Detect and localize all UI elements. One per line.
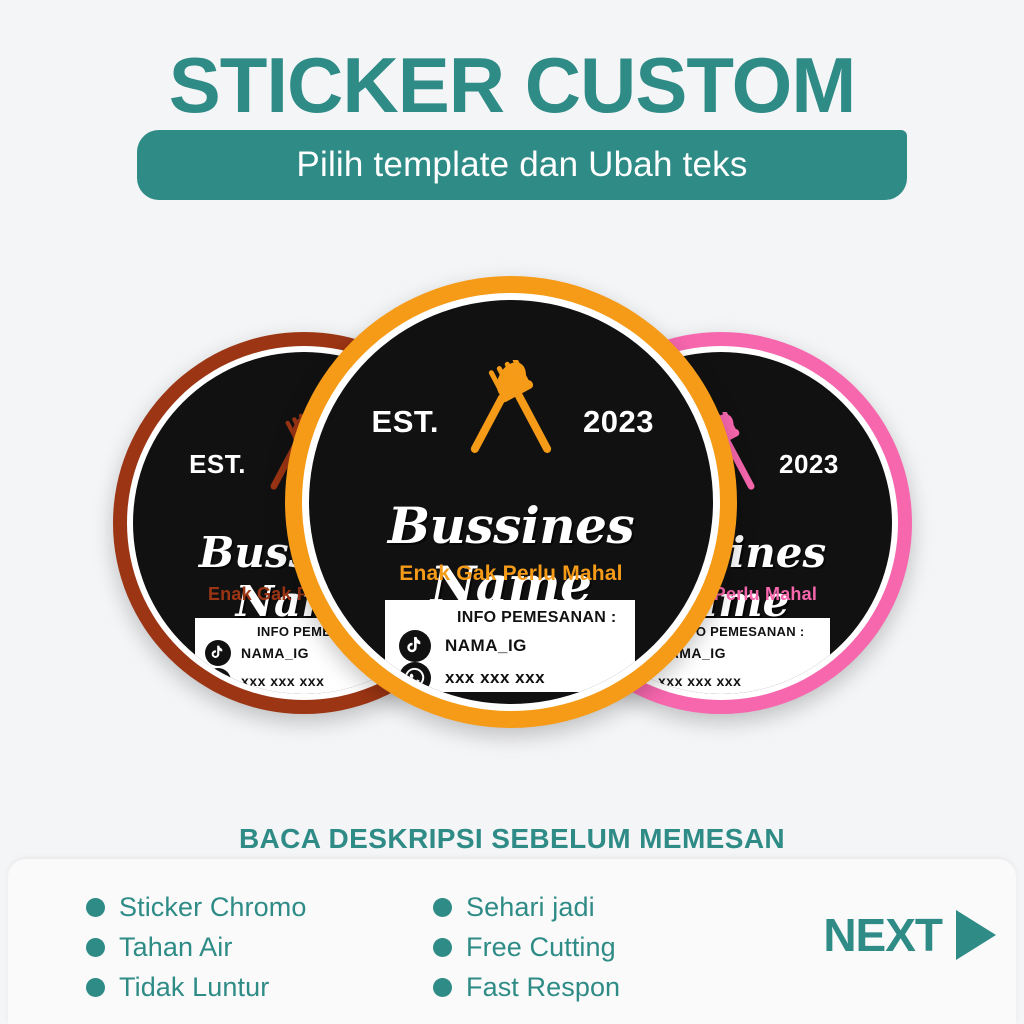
feature-label: Tahan Air	[119, 932, 232, 963]
year-label: 2023	[771, 449, 875, 480]
subtitle-text: Pilih template dan Ubah teks	[296, 145, 747, 185]
sticker-showcase: EST.	[0, 238, 1024, 778]
bullet-dot-icon	[433, 898, 452, 917]
features-column-1: Sticker Chromo Tahan Air Tidak Luntur	[86, 887, 306, 1007]
est-label: EST.	[331, 404, 451, 440]
next-button[interactable]: NEXT	[823, 908, 996, 962]
page-title: STICKER CUSTOM	[0, 46, 1024, 124]
tiktok-row: NAMA_IG	[205, 640, 309, 666]
whatsapp-icon	[399, 662, 431, 694]
feature-label: Tidak Luntur	[119, 972, 269, 1003]
features-column-2: Sehari jadi Free Cutting Fast Respon	[433, 887, 620, 1007]
sticker-preview-center[interactable]: EST.	[285, 276, 737, 728]
list-item: Tahan Air	[86, 927, 306, 967]
list-item: Fast Respon	[433, 967, 620, 1007]
feature-label: Sticker Chromo	[119, 892, 306, 923]
bullet-dot-icon	[86, 938, 105, 957]
tiktok-handle: NAMA_IG	[241, 645, 309, 661]
feature-label: Fast Respon	[466, 972, 620, 1003]
subtitle-banner: Pilih template dan Ubah teks	[137, 130, 907, 200]
brush-banner: INFO PEMESANAN : NAMA_IG xxx xxx xxx	[385, 600, 635, 692]
spoon-fork-crossed-icon	[451, 360, 571, 470]
tiktok-handle: NAMA_IG	[445, 636, 527, 656]
bullet-dot-icon	[433, 938, 452, 957]
est-year-row: EST.	[309, 374, 713, 470]
tiktok-icon	[205, 640, 231, 666]
read-description-heading: BACA DESKRIPSI SEBELUM MEMESAN	[0, 823, 1024, 855]
tiktok-row: NAMA_IG	[399, 630, 527, 662]
header: STICKER CUSTOM Pilih template dan Ubah t…	[0, 0, 1024, 230]
bullet-dot-icon	[433, 978, 452, 997]
business-name: Bussines Name	[309, 496, 713, 614]
whatsapp-row: xxx xxx xxx	[205, 668, 324, 694]
tagline: Enak Gak Perlu Mahal	[309, 562, 713, 586]
whatsapp-number: xxx xxx xxx	[445, 668, 545, 688]
year-label: 2023	[571, 404, 691, 440]
est-label: EST.	[150, 449, 254, 480]
play-triangle-icon	[956, 910, 996, 960]
list-item: Tidak Luntur	[86, 967, 306, 1007]
feature-label: Free Cutting	[466, 932, 616, 963]
bullet-dot-icon	[86, 898, 105, 917]
info-title: INFO PEMESANAN :	[457, 609, 616, 627]
sticker-face: EST.	[309, 300, 713, 704]
whatsapp-icon	[205, 668, 231, 694]
list-item: Free Cutting	[433, 927, 620, 967]
whatsapp-row: xxx xxx xxx	[399, 662, 545, 694]
list-item: Sehari jadi	[433, 887, 620, 927]
bullet-dot-icon	[86, 978, 105, 997]
list-item: Sticker Chromo	[86, 887, 306, 927]
feature-label: Sehari jadi	[466, 892, 595, 923]
tiktok-icon	[399, 630, 431, 662]
next-label: NEXT	[823, 908, 942, 962]
